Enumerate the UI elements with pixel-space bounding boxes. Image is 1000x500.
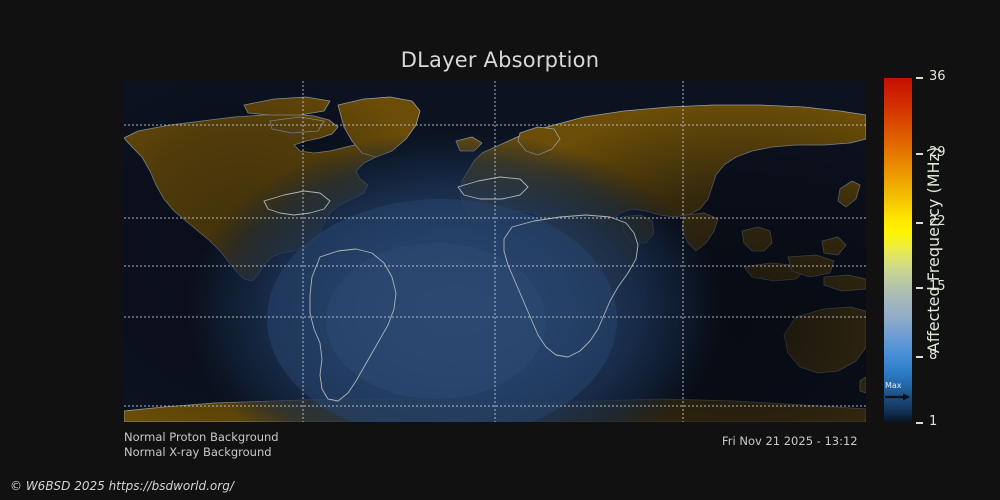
colorbar-max-label: Max	[885, 381, 902, 390]
colorbar-tick-1: 1	[916, 423, 986, 425]
dlayer-absorption-page: DLayer Absorption	[0, 0, 1000, 500]
timestamp-text: Fri Nov 21 2025 - 13:12	[722, 434, 858, 448]
copyright-text: © W6BSD 2025 https://bsdworld.org/	[10, 479, 234, 493]
colorbar-tick-dash	[916, 422, 923, 424]
xray-status-text: Normal X-ray Background	[124, 445, 272, 459]
proton-status-text: Normal Proton Background	[124, 430, 279, 444]
colorbar[interactable]	[884, 78, 912, 422]
arrow-right-icon	[885, 393, 910, 401]
colorbar-max-marker: Max	[884, 381, 912, 403]
map-canvas	[124, 81, 866, 422]
page-title: DLayer Absorption	[0, 48, 1000, 72]
colorbar-axis-label: Affected Frequency (MHz)	[919, 78, 947, 422]
world-map[interactable]	[124, 81, 866, 422]
